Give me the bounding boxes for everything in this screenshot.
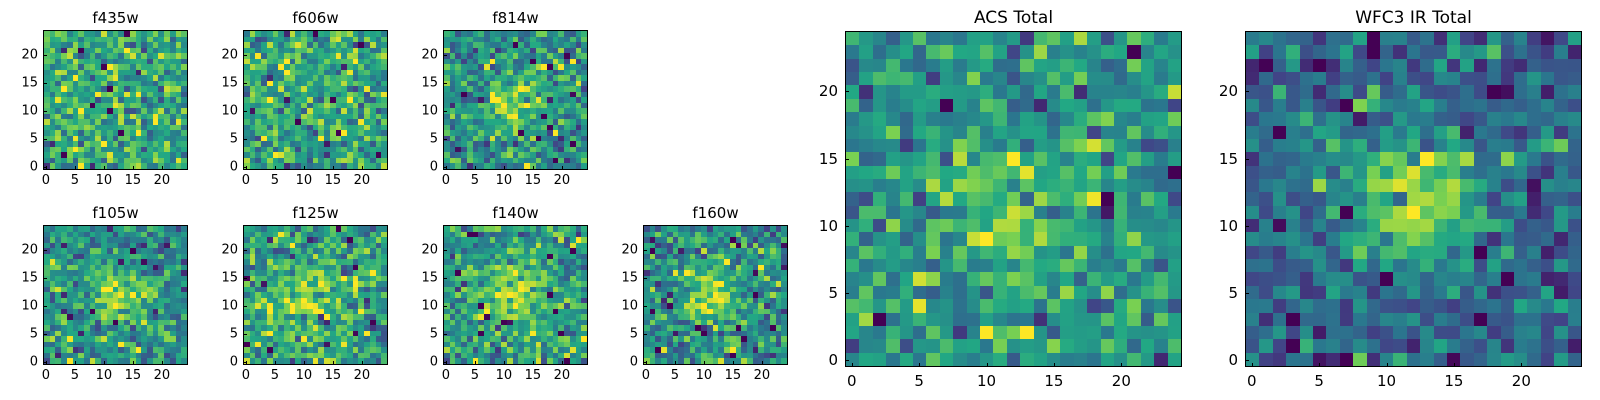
y-tick-label: 0 — [404, 355, 438, 370]
y-tick-label: 10 — [204, 104, 238, 119]
y-tick-mark — [43, 362, 47, 363]
heatmap-axes-wfc3_ir_total — [1245, 31, 1582, 367]
x-tick-mark — [562, 361, 563, 365]
x-tick-label: 20 — [554, 173, 571, 188]
x-tick-label: 20 — [554, 368, 571, 383]
y-tick-mark — [243, 278, 247, 279]
y-tick-mark — [443, 306, 447, 307]
x-tick-mark — [533, 361, 534, 365]
y-tick-mark — [443, 139, 447, 140]
y-tick-mark — [443, 278, 447, 279]
x-tick-mark — [133, 361, 134, 365]
y-tick-mark — [443, 111, 447, 112]
y-tick-label: 15 — [1204, 150, 1238, 168]
x-tick-label: 5 — [271, 173, 279, 188]
y-tick-label: 10 — [4, 299, 38, 314]
x-tick-label: 5 — [471, 173, 479, 188]
x-tick-label: 15 — [325, 173, 342, 188]
panel-title-wfc3_ir_total: WFC3 IR Total — [1245, 8, 1582, 28]
x-tick-mark — [333, 361, 334, 365]
heatmap-axes-f814w — [443, 30, 588, 170]
x-tick-mark — [919, 363, 920, 367]
x-tick-label: 10 — [96, 368, 113, 383]
x-tick-mark — [104, 361, 105, 365]
x-tick-label: 5 — [1314, 372, 1324, 390]
y-tick-mark — [643, 362, 647, 363]
y-tick-mark — [243, 250, 247, 251]
x-tick-label: 10 — [296, 173, 313, 188]
panel-title-f140w: f140w — [443, 204, 588, 222]
x-tick-label: 15 — [325, 368, 342, 383]
y-tick-label: 15 — [804, 150, 838, 168]
heatmap-image-f814w — [444, 31, 587, 169]
y-tick-label: 0 — [204, 160, 238, 175]
x-tick-label: 10 — [496, 368, 513, 383]
x-tick-mark — [275, 166, 276, 170]
x-tick-label: 5 — [71, 173, 79, 188]
x-tick-label: 0 — [642, 368, 650, 383]
x-tick-label: 20 — [1512, 372, 1531, 390]
panel-title-f814w: f814w — [443, 9, 588, 27]
x-tick-label: 20 — [354, 173, 371, 188]
heatmap-image-f125w — [244, 226, 387, 364]
y-tick-label: 20 — [404, 48, 438, 63]
x-tick-label: 15 — [125, 368, 142, 383]
panel-f140w: f140w0055101015152020 — [443, 225, 588, 365]
x-tick-mark — [762, 361, 763, 365]
x-tick-label: 10 — [977, 372, 996, 390]
y-tick-mark — [43, 139, 47, 140]
x-tick-label: 10 — [696, 368, 713, 383]
y-tick-label: 5 — [404, 132, 438, 147]
heatmap-image-f105w — [44, 226, 187, 364]
y-tick-label: 10 — [204, 299, 238, 314]
y-tick-mark — [443, 83, 447, 84]
x-tick-label: 0 — [847, 372, 857, 390]
panel-f160w: f160w0055101015152020 — [643, 225, 788, 365]
y-tick-mark — [43, 278, 47, 279]
x-tick-label: 20 — [154, 368, 171, 383]
y-tick-mark — [845, 91, 849, 92]
x-tick-label: 15 — [1444, 372, 1463, 390]
x-tick-label: 5 — [271, 368, 279, 383]
y-tick-label: 20 — [4, 243, 38, 258]
panel-f125w: f125w0055101015152020 — [243, 225, 388, 365]
y-tick-mark — [243, 55, 247, 56]
x-tick-label: 10 — [1377, 372, 1396, 390]
x-tick-mark — [304, 361, 305, 365]
y-tick-label: 0 — [804, 351, 838, 369]
y-tick-label: 0 — [4, 355, 38, 370]
x-tick-mark — [1252, 363, 1253, 367]
y-tick-label: 5 — [204, 132, 238, 147]
y-tick-mark — [243, 111, 247, 112]
y-tick-label: 10 — [604, 299, 638, 314]
y-tick-mark — [43, 111, 47, 112]
x-tick-mark — [475, 166, 476, 170]
y-tick-mark — [43, 83, 47, 84]
y-tick-mark — [443, 334, 447, 335]
panel-wfc3_ir_total: WFC3 IR Total0055101015152020 — [1245, 31, 1582, 367]
y-tick-label: 15 — [604, 271, 638, 286]
y-tick-label: 10 — [4, 104, 38, 119]
y-tick-mark — [443, 55, 447, 56]
panel-title-f160w: f160w — [643, 204, 788, 222]
heatmap-image-f160w — [644, 226, 787, 364]
x-tick-mark — [333, 166, 334, 170]
x-tick-mark — [104, 166, 105, 170]
x-tick-mark — [733, 361, 734, 365]
x-tick-label: 15 — [525, 368, 542, 383]
y-tick-label: 10 — [404, 104, 438, 119]
heatmap-axes-acs_total — [845, 31, 1182, 367]
y-tick-mark — [43, 334, 47, 335]
heatmap-image-acs_total — [846, 32, 1181, 366]
y-tick-label: 5 — [804, 284, 838, 302]
y-tick-mark — [1245, 226, 1249, 227]
heatmap-image-f435w — [44, 31, 187, 169]
y-tick-label: 15 — [404, 76, 438, 91]
x-tick-mark — [987, 363, 988, 367]
y-tick-label: 20 — [204, 48, 238, 63]
x-tick-mark — [75, 166, 76, 170]
x-tick-label: 0 — [42, 173, 50, 188]
y-tick-label: 15 — [204, 76, 238, 91]
x-tick-mark — [675, 361, 676, 365]
y-tick-label: 0 — [4, 160, 38, 175]
x-tick-mark — [1521, 363, 1522, 367]
y-tick-mark — [845, 293, 849, 294]
heatmap-axes-f125w — [243, 225, 388, 365]
x-tick-mark — [562, 166, 563, 170]
y-tick-label: 10 — [404, 299, 438, 314]
panel-title-f105w: f105w — [43, 204, 188, 222]
x-tick-label: 5 — [914, 372, 924, 390]
panel-title-f435w: f435w — [43, 9, 188, 27]
y-tick-mark — [43, 250, 47, 251]
y-tick-label: 20 — [804, 82, 838, 100]
y-tick-mark — [43, 55, 47, 56]
x-tick-label: 0 — [242, 368, 250, 383]
x-tick-mark — [275, 361, 276, 365]
x-tick-label: 15 — [1044, 372, 1063, 390]
panel-f105w: f105w0055101015152020 — [43, 225, 188, 365]
x-tick-mark — [504, 361, 505, 365]
x-tick-label: 10 — [296, 368, 313, 383]
panel-f606w: f606w0055101015152020 — [243, 30, 388, 170]
y-tick-mark — [845, 226, 849, 227]
panel-title-f606w: f606w — [243, 9, 388, 27]
y-tick-label: 5 — [404, 327, 438, 342]
y-tick-mark — [643, 278, 647, 279]
y-tick-mark — [643, 250, 647, 251]
x-tick-label: 15 — [125, 173, 142, 188]
x-tick-label: 20 — [354, 368, 371, 383]
x-tick-mark — [504, 166, 505, 170]
heatmap-axes-f435w — [43, 30, 188, 170]
y-tick-label: 5 — [4, 132, 38, 147]
y-tick-mark — [443, 167, 447, 168]
y-tick-mark — [243, 167, 247, 168]
x-tick-mark — [533, 166, 534, 170]
x-tick-label: 0 — [1247, 372, 1257, 390]
panel-acs_total: ACS Total0055101015152020 — [845, 31, 1182, 367]
y-tick-label: 5 — [1204, 284, 1238, 302]
y-tick-mark — [243, 83, 247, 84]
x-tick-mark — [162, 361, 163, 365]
y-tick-label: 0 — [1204, 351, 1238, 369]
y-tick-label: 0 — [404, 160, 438, 175]
y-tick-label: 20 — [4, 48, 38, 63]
y-tick-label: 20 — [204, 243, 238, 258]
x-tick-label: 0 — [442, 173, 450, 188]
x-tick-mark — [362, 166, 363, 170]
y-tick-mark — [1245, 159, 1249, 160]
x-tick-label: 15 — [725, 368, 742, 383]
y-tick-label: 0 — [604, 355, 638, 370]
heatmap-image-f140w — [444, 226, 587, 364]
x-tick-mark — [1454, 363, 1455, 367]
heatmap-axes-f140w — [443, 225, 588, 365]
x-tick-label: 5 — [471, 368, 479, 383]
y-tick-label: 15 — [4, 76, 38, 91]
y-tick-label: 5 — [204, 327, 238, 342]
y-tick-label: 5 — [604, 327, 638, 342]
x-tick-label: 20 — [154, 173, 171, 188]
y-tick-mark — [845, 159, 849, 160]
y-tick-label: 15 — [404, 271, 438, 286]
y-tick-mark — [43, 167, 47, 168]
heatmap-image-wfc3_ir_total — [1246, 32, 1581, 366]
x-tick-mark — [475, 361, 476, 365]
y-tick-label: 20 — [604, 243, 638, 258]
x-tick-label: 15 — [525, 173, 542, 188]
x-tick-label: 0 — [242, 173, 250, 188]
heatmap-axes-f160w — [643, 225, 788, 365]
x-tick-mark — [1054, 363, 1055, 367]
x-tick-label: 10 — [496, 173, 513, 188]
heatmap-axes-f105w — [43, 225, 188, 365]
x-tick-mark — [704, 361, 705, 365]
heatmap-axes-f606w — [243, 30, 388, 170]
figure-canvas: f435w0055101015152020f606w00551010151520… — [0, 0, 1600, 400]
panel-title-f125w: f125w — [243, 204, 388, 222]
panel-title-acs_total: ACS Total — [845, 8, 1182, 28]
y-tick-label: 15 — [4, 271, 38, 286]
y-tick-mark — [243, 306, 247, 307]
y-tick-label: 20 — [404, 243, 438, 258]
y-tick-mark — [243, 334, 247, 335]
x-tick-label: 0 — [42, 368, 50, 383]
y-tick-mark — [443, 362, 447, 363]
x-tick-mark — [162, 166, 163, 170]
x-tick-label: 0 — [442, 368, 450, 383]
x-tick-label: 10 — [96, 173, 113, 188]
heatmap-image-f606w — [244, 31, 387, 169]
x-tick-mark — [852, 363, 853, 367]
y-tick-mark — [1245, 91, 1249, 92]
y-tick-mark — [643, 306, 647, 307]
y-tick-mark — [243, 139, 247, 140]
panel-f435w: f435w0055101015152020 — [43, 30, 188, 170]
y-tick-label: 10 — [804, 217, 838, 235]
y-tick-mark — [643, 334, 647, 335]
y-tick-mark — [243, 362, 247, 363]
x-tick-label: 5 — [71, 368, 79, 383]
y-tick-label: 15 — [204, 271, 238, 286]
x-tick-mark — [133, 166, 134, 170]
y-tick-label: 0 — [204, 355, 238, 370]
y-tick-mark — [1245, 293, 1249, 294]
panel-f814w: f814w0055101015152020 — [443, 30, 588, 170]
x-tick-label: 20 — [754, 368, 771, 383]
x-tick-label: 20 — [1112, 372, 1131, 390]
x-tick-mark — [75, 361, 76, 365]
y-tick-label: 20 — [1204, 82, 1238, 100]
x-tick-mark — [1387, 363, 1388, 367]
x-tick-mark — [362, 361, 363, 365]
y-tick-mark — [845, 360, 849, 361]
y-tick-label: 10 — [1204, 217, 1238, 235]
y-tick-mark — [43, 306, 47, 307]
y-tick-label: 5 — [4, 327, 38, 342]
x-tick-mark — [304, 166, 305, 170]
x-tick-label: 5 — [671, 368, 679, 383]
y-tick-mark — [443, 250, 447, 251]
x-tick-mark — [1319, 363, 1320, 367]
y-tick-mark — [1245, 360, 1249, 361]
x-tick-mark — [1121, 363, 1122, 367]
